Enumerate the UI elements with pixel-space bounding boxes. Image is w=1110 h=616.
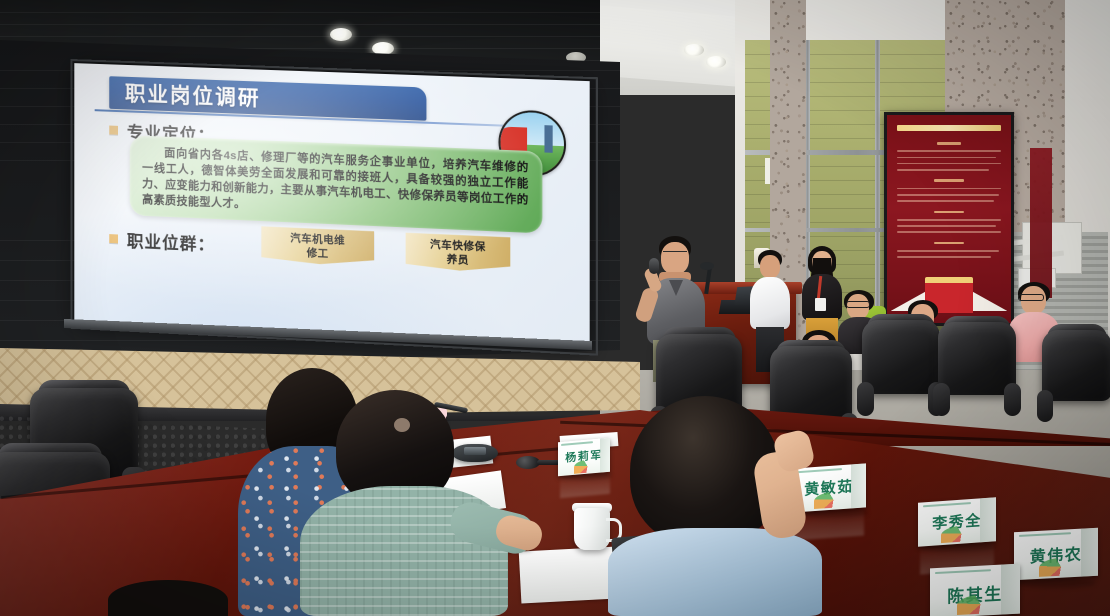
ceiling-downlight [330,28,352,41]
name-placard: 黄伟农 [1014,528,1098,580]
name-placard: 陈其生 [930,564,1020,616]
red-institutional-poster [884,112,1014,326]
name-placard: 李秀全 [918,497,996,546]
ceiling-downlight [706,56,726,68]
office-chair [1042,330,1110,426]
person-foreground-light-blue-shirt [608,396,828,616]
glasses-icon [1018,294,1044,301]
name-placard: 杨莉军 [558,438,610,477]
id-badge-icon [815,298,826,311]
glasses-icon [846,301,870,308]
person-foreground-partial [108,580,228,616]
ceiling-downlight [684,44,704,56]
ceiling-downlight [372,42,394,55]
conference-room-photo: 职业岗位调研 专业定位： 面向省内各4s店、修理厂等的汽车服务企事业单位，培养汽… [0,0,1110,616]
red-vertical-banner [1030,148,1052,298]
handheld-microphone-icon [649,258,659,274]
office-chair [938,322,1016,420]
office-chair [862,320,940,420]
person-foreground-teal-top [300,390,530,616]
teacup [574,508,610,550]
projection-screen-frame [71,59,598,356]
